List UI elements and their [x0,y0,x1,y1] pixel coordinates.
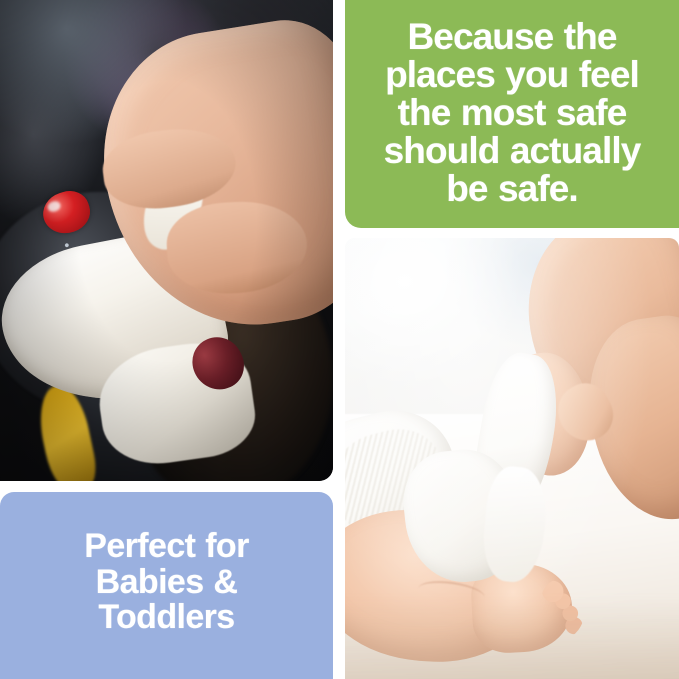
quote-line-4: should actually [384,132,641,170]
quote-line-5: be safe. [384,170,641,208]
photo-car-wipe [0,0,333,481]
photo-baby-wipe [345,238,679,679]
audience-line-1: Perfect for [84,529,248,564]
audience-text-block: Perfect for Babies & Toddlers [84,529,248,641]
audience-panel: Perfect for Babies & Toddlers [0,492,333,679]
quote-panel: Because the places you feel the most saf… [345,0,679,228]
photo-soft-light [345,238,679,679]
product-infographic: Because the places you feel the most saf… [0,0,679,679]
audience-line-2: Babies & [84,565,248,600]
quote-text-block: Because the places you feel the most saf… [380,16,645,213]
quote-line-2: places you feel [384,56,641,94]
quote-line-1: Because the [384,18,641,56]
audience-line-3: Toddlers [84,600,248,635]
photo-vignette [0,0,333,481]
quote-line-3: the most safe [384,94,641,132]
